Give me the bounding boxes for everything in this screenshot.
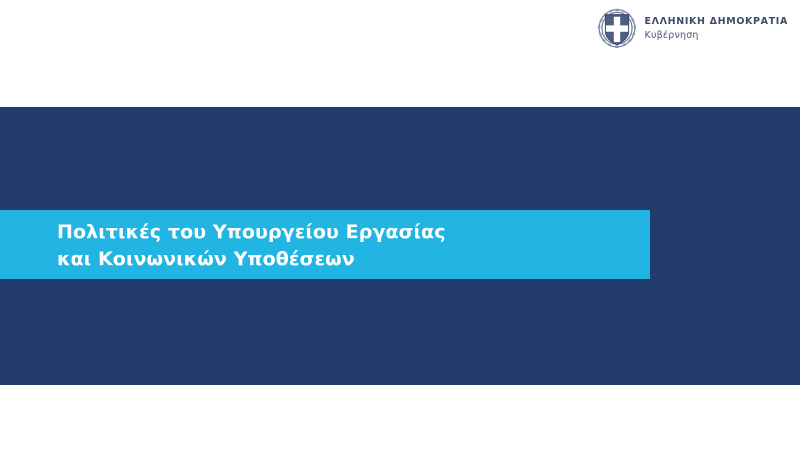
bottom-white-strip — [0, 385, 800, 450]
government-logo-subtitle: Κυβέρνηση — [645, 31, 788, 41]
slide-title: Πολιτικές του Υπουργείου Εργασίας και Κο… — [57, 219, 617, 273]
government-logo-text: ΕΛΛΗΝΙΚΗ ΔΗΜΟΚΡΑΤΙΑ Κυβέρνηση — [645, 17, 788, 41]
government-logo: ΕΛΛΗΝΙΚΗ ΔΗΜΟΚΡΑΤΙΑ Κυβέρνηση — [597, 8, 788, 50]
presentation-slide: Πολιτικές του Υπουργείου Εργασίας και Κο… — [0, 0, 800, 450]
greek-coat-of-arms-icon — [597, 8, 637, 50]
government-logo-title: ΕΛΛΗΝΙΚΗ ΔΗΜΟΚΡΑΤΙΑ — [645, 17, 788, 27]
